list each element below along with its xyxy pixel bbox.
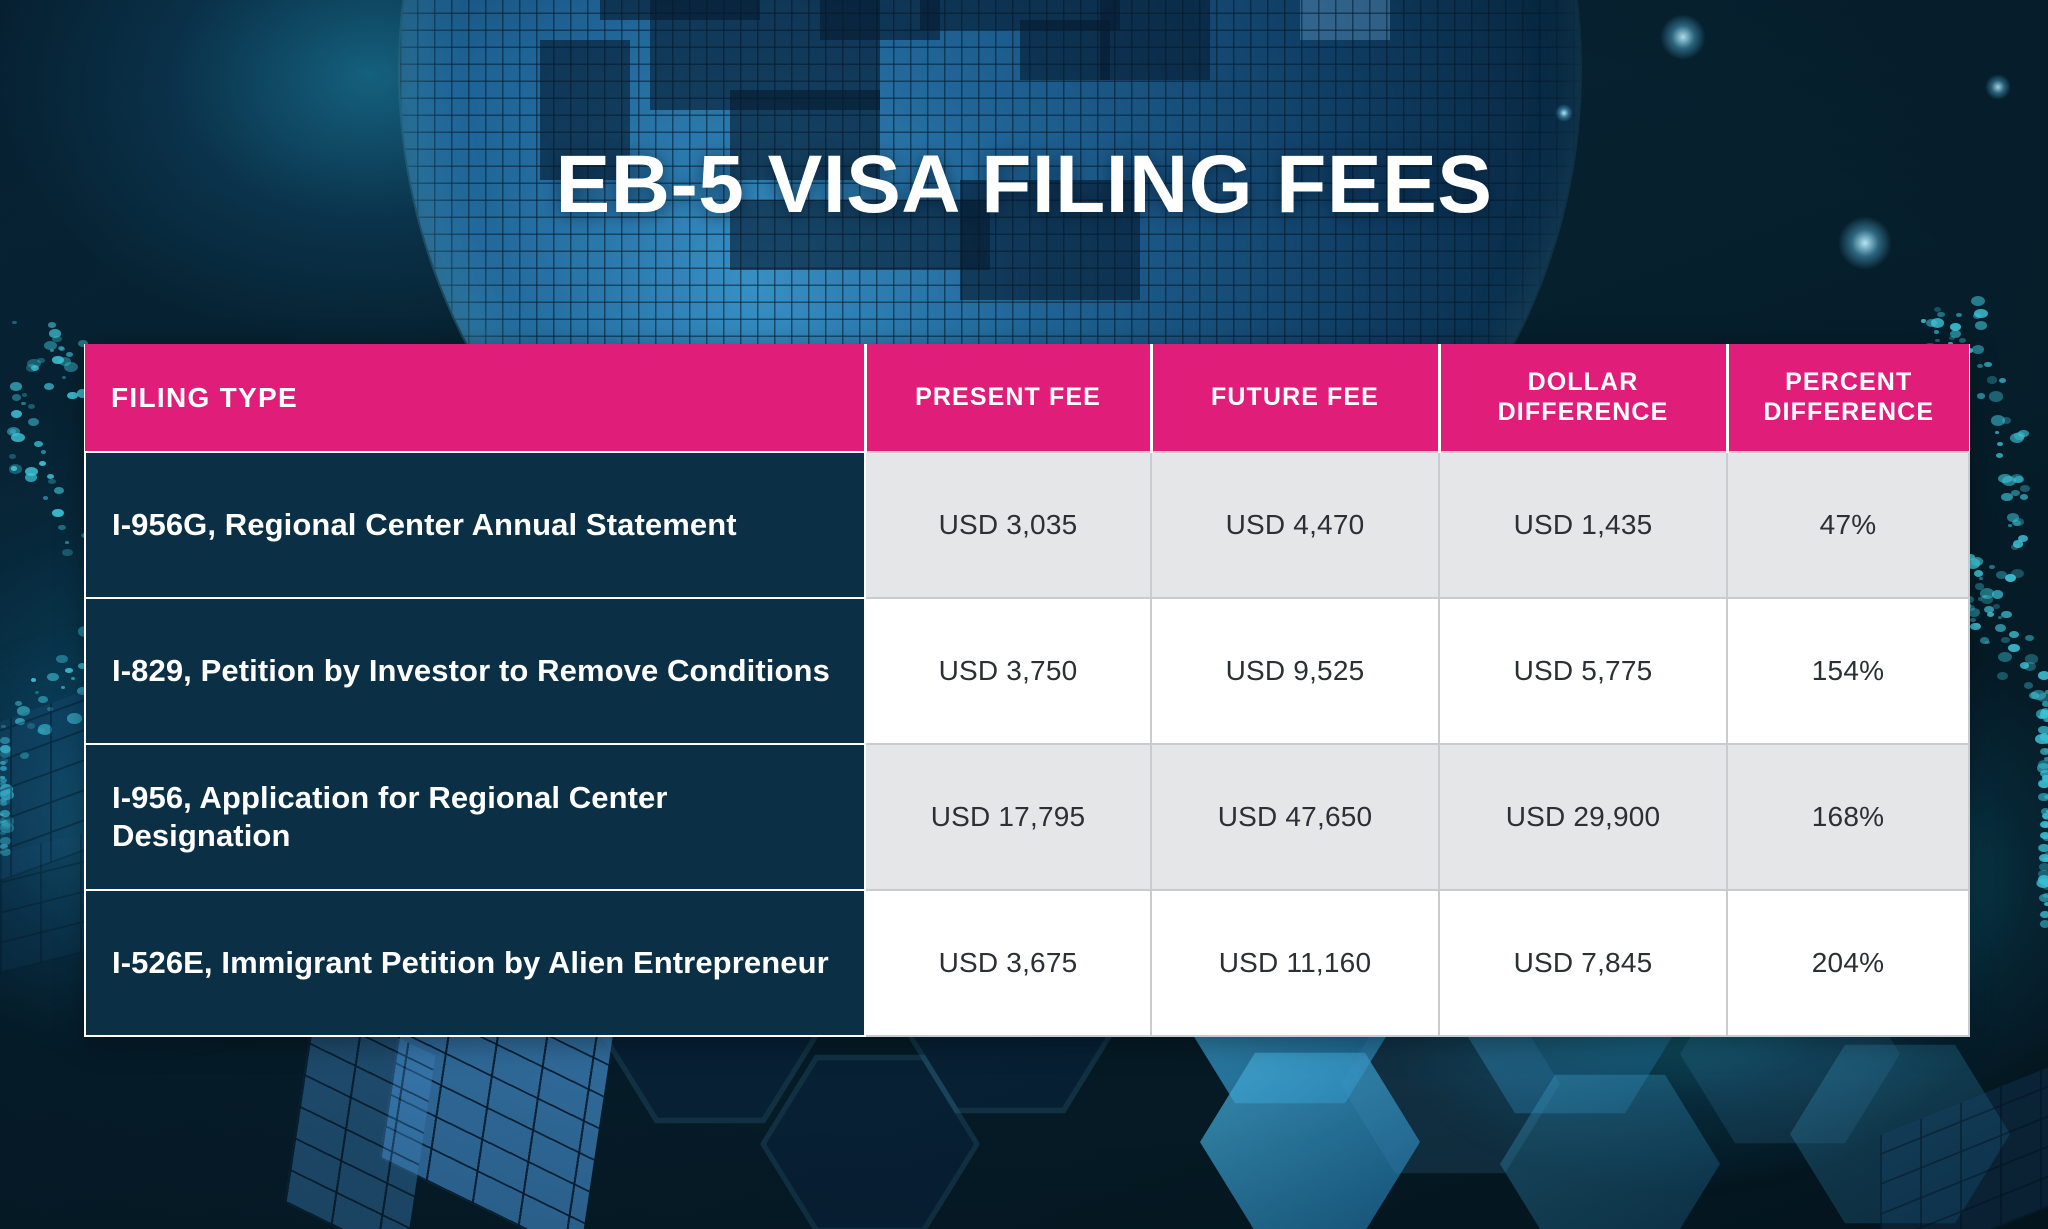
particle-dot (1987, 376, 1997, 384)
particle-dot (43, 496, 48, 500)
cell-percent-difference: 47% (1727, 452, 1969, 598)
particle-dot (1956, 313, 1962, 317)
table-header: FILING TYPE PRESENT FEE FUTURE FEE DOLLA… (85, 344, 1969, 452)
particle-dot (2044, 757, 2048, 762)
particle-dot (2042, 813, 2048, 819)
cell-percent-difference: 204% (1727, 890, 1969, 1036)
particle-dot (11, 466, 18, 471)
particle-dot (41, 450, 46, 453)
particle-dot (2018, 535, 2028, 542)
particle-dot (1977, 364, 1983, 368)
particle-dot (25, 473, 37, 482)
cell-dollar-difference: USD 5,775 (1439, 598, 1727, 744)
particle-dot (48, 479, 56, 485)
cell-filing-type: I-526E, Immigrant Petition by Alien Entr… (85, 890, 865, 1036)
particle-dot (1993, 604, 2000, 609)
particle-dot (1995, 431, 1999, 434)
particle-dot (2011, 474, 2023, 483)
particle-dot (12, 394, 21, 401)
particle-dot (1959, 338, 1966, 343)
particle-dot (2009, 631, 2019, 638)
particle-dot (2037, 879, 2048, 888)
cell-future-fee: USD 11,160 (1151, 890, 1439, 1036)
particle-dot (2008, 524, 2012, 527)
column-header-filing-type[interactable]: FILING TYPE (85, 344, 865, 452)
particle-dot (47, 673, 59, 682)
particle-dot (11, 410, 23, 418)
particle-dot (1950, 323, 1960, 331)
particle-dot (1975, 321, 1987, 330)
cell-future-fee: USD 4,470 (1151, 452, 1439, 598)
particle-dot (22, 393, 27, 397)
particle-dot (1999, 378, 2006, 383)
fees-table: FILING TYPE PRESENT FEE FUTURE FEE DOLLA… (84, 344, 1970, 1037)
particle-dot (1972, 345, 1985, 354)
particle-dot (2038, 760, 2048, 769)
particle-dot (1935, 339, 1940, 343)
particle-dot (65, 541, 69, 544)
particle-dot (2002, 417, 2012, 424)
particle-dot (2038, 870, 2048, 879)
particle-dot (58, 525, 66, 531)
particle-dot (2008, 644, 2020, 653)
particle-dot (1997, 442, 2003, 446)
particle-dot (27, 359, 40, 368)
particle-dot (1926, 319, 1937, 327)
particle-dot (10, 382, 21, 390)
particle-dot (2011, 490, 2019, 496)
cell-filing-type: I-829, Petition by Investor to Remove Co… (85, 598, 865, 744)
cell-percent-difference: 168% (1727, 744, 1969, 890)
star-glow (1660, 14, 1706, 60)
particle-dot (1971, 557, 1983, 565)
table-row[interactable]: I-956, Application for Regional Center D… (85, 744, 1969, 890)
particle-dot (44, 383, 55, 391)
particle-dot (21, 402, 25, 405)
particle-dot (2040, 748, 2048, 755)
star-glow (1985, 74, 2011, 100)
particle-dot (2039, 854, 2048, 862)
particle-dot (1971, 296, 1985, 306)
column-header-percent-difference[interactable]: PERCENT DIFFERENCE (1727, 344, 1969, 452)
particle-dot (1992, 590, 2004, 599)
particle-dot (1934, 330, 1939, 333)
column-header-line-1: DOLLAR (1528, 368, 1639, 396)
particle-dot (34, 441, 42, 447)
particle-dot (35, 691, 39, 694)
particle-dot (31, 678, 36, 682)
particle-dot (2020, 485, 2030, 492)
particle-dot (62, 376, 66, 379)
particle-dot (9, 454, 16, 459)
particle-dot (2038, 671, 2048, 680)
particle-dot (1949, 336, 1955, 340)
cell-future-fee: USD 9,525 (1151, 598, 1439, 744)
particle-dot (2005, 574, 2016, 582)
particle-dot (39, 461, 46, 466)
page-title: EB-5 VISA FILING FEES (0, 138, 2048, 232)
cell-present-fee: USD 3,035 (865, 452, 1151, 598)
particle-dot (62, 549, 73, 557)
particle-dot (56, 655, 68, 664)
table-row[interactable]: I-829, Petition by Investor to Remove Co… (85, 598, 1969, 744)
particle-dot (2024, 682, 2033, 689)
particle-dot (2011, 544, 2020, 550)
particle-dot (1995, 624, 2006, 632)
particle-dot (1979, 577, 1983, 580)
table-row[interactable]: I-526E, Immigrant Petition by Alien Entr… (85, 890, 1969, 1036)
particle-dot (11, 433, 24, 443)
particle-dot (2007, 513, 2019, 522)
particle-dot (2029, 692, 2039, 699)
particle-dot (64, 362, 78, 372)
cell-future-fee: USD 47,650 (1151, 744, 1439, 890)
particle-dot (61, 686, 65, 689)
particle-dot (2001, 637, 2009, 643)
table-row[interactable]: I-956G, Regional Center Annual Statement… (85, 452, 1969, 598)
cell-present-fee: USD 17,795 (865, 744, 1151, 890)
particle-dot (48, 322, 56, 328)
particle-dot (2042, 775, 2048, 781)
particle-dot (1973, 313, 1982, 319)
particle-dot (2001, 493, 2013, 501)
cell-dollar-difference: USD 1,435 (1439, 452, 1727, 598)
particle-dot (28, 404, 35, 409)
slide-canvas: EB-5 VISA FILING FEES FILING TYPE PRESEN… (0, 0, 2048, 1229)
particle-dot (1977, 393, 1985, 398)
particle-dot (2018, 430, 2028, 437)
particle-dot (38, 696, 49, 704)
column-header-dollar-difference[interactable]: DOLLAR DIFFERENCE (1439, 344, 1727, 452)
particle-dot (1998, 652, 2012, 662)
cell-percent-difference: 154% (1727, 598, 1969, 744)
column-header-line-1: PERCENT (1785, 368, 1912, 396)
table-body: I-956G, Regional Center Annual Statement… (85, 452, 1969, 1036)
particle-dot (28, 418, 39, 426)
fees-table-container: FILING TYPE PRESENT FEE FUTURE FEE DOLLA… (84, 344, 1968, 1037)
column-header-present-fee[interactable]: PRESENT FEE (865, 344, 1151, 452)
cell-present-fee: USD 3,675 (865, 890, 1151, 1036)
column-header-future-fee[interactable]: FUTURE FEE (1151, 344, 1439, 452)
particle-dot (52, 509, 64, 517)
particle-dot (1996, 453, 2003, 458)
particle-dot (1974, 623, 1980, 627)
particle-dot (2001, 611, 2011, 618)
particle-dot (1997, 672, 2008, 680)
cell-filing-type: I-956G, Regional Center Annual Statement (85, 452, 865, 598)
particle-dot (1921, 319, 1926, 322)
particle-dot (1985, 641, 1990, 645)
particle-dot (2020, 662, 2029, 669)
particle-dot (2040, 733, 2048, 741)
particle-dot (2041, 708, 2048, 715)
cell-filing-type: I-956, Application for Regional Center D… (85, 744, 865, 890)
column-header-line-2: DIFFERENCE (1498, 398, 1669, 426)
particle-dot (1984, 362, 1991, 367)
cell-present-fee: USD 3,750 (865, 598, 1151, 744)
particle-dot (2020, 494, 2028, 500)
particle-dot (1989, 565, 1995, 569)
column-header-line-2: DIFFERENCE (1763, 398, 1934, 426)
particle-dot (1937, 312, 1944, 317)
particle-dot (50, 349, 55, 352)
cell-dollar-difference: USD 7,845 (1439, 890, 1727, 1036)
particle-dot (2040, 832, 2048, 839)
particle-dot (2038, 844, 2048, 852)
particle-dot (65, 668, 73, 674)
table-header-row: FILING TYPE PRESENT FEE FUTURE FEE DOLLA… (85, 344, 1969, 452)
particle-dot (2042, 823, 2048, 829)
particle-dot (1974, 570, 1983, 576)
particle-dot (2044, 795, 2048, 799)
particle-dot (1970, 618, 1976, 622)
particle-dot (1989, 391, 2004, 401)
particle-dot (1987, 612, 1994, 617)
star-glow (1555, 104, 1573, 122)
cell-dollar-difference: USD 29,900 (1439, 744, 1727, 890)
particle-dot (2025, 635, 2034, 641)
particle-dot (71, 677, 75, 680)
particle-dot (54, 487, 64, 494)
particle-dot (1982, 595, 1987, 598)
